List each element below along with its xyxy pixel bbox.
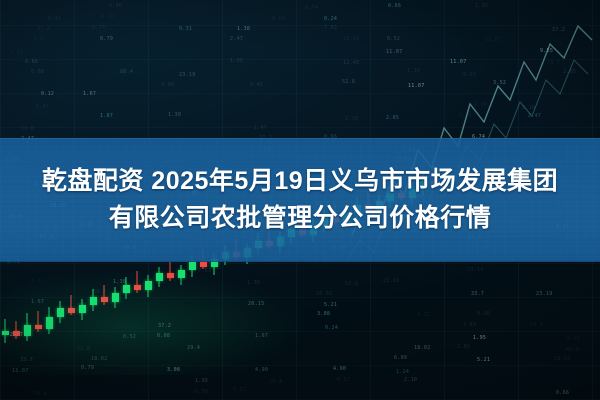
title-line-2: 有限公司农批管理分公司价格行情 (109, 202, 492, 235)
banner-texture (0, 138, 600, 262)
hero-image: 0.456.740.661.958.310.580.580.2437.20.79… (0, 0, 600, 400)
title-banner: 乾盘配资 2025年5月19日义乌市市场发展集团 有限公司农批管理分公司价格行情 (0, 138, 600, 262)
title-line-1: 乾盘配资 2025年5月19日义乌市市场发展集团 (42, 165, 558, 198)
